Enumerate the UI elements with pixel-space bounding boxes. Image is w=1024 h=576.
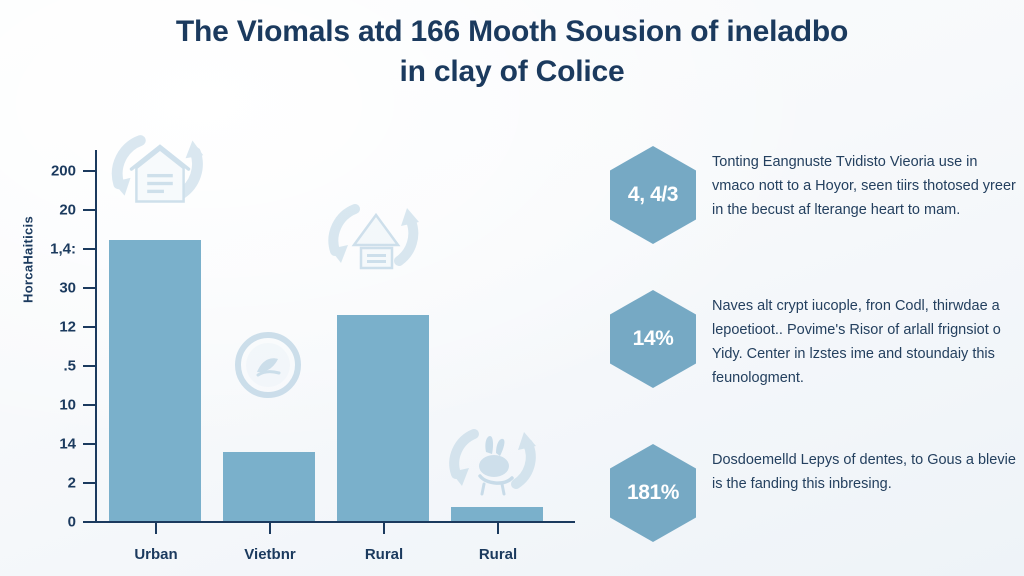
stat-item: 14% Naves alt crypt iucople, fron Codl, … [600,290,1024,390]
y-axis-tick: 20 [83,209,95,211]
y-axis-tick-label: 10 [59,397,76,414]
rabbit-recycle-icon [442,418,546,510]
y-axis-tick: 1,4: [83,248,95,250]
hexagon-badge[interactable]: 4, 4/3 [610,146,696,244]
stat-description: Dosdoemelld Lepys of dentes, to Gous a b… [712,444,1024,496]
bar-vietbnr[interactable] [223,452,315,521]
hexagon-value: 181% [627,481,679,505]
y-axis-tick-label: 200 [51,163,76,180]
x-axis-line [95,521,575,523]
x-axis-label-rural-1: Rural [365,546,403,563]
y-axis-tick-label: 0 [68,514,76,531]
stat-description: Naves alt crypt iucople, fron Codl, thir… [712,290,1024,390]
stat-item: 4, 4/3 Tonting Eangnuste Tvidisto Vieori… [600,146,1024,244]
y-axis-tick-label: .5 [63,358,76,375]
hexagon-value: 14% [633,327,674,351]
bar-chart: HorcaHaiticis 200 20 1,4: 30 12 .5 [0,110,600,576]
title-line-2: in clay of Colice [90,52,934,92]
hexagon-badge[interactable]: 14% [610,290,696,388]
title-line-1: The Viomals atd 166 Mooth Sousion of ine… [90,12,934,52]
hexagon-value: 4, 4/3 [628,183,678,207]
infographic-poster: The Viomals atd 166 Mooth Sousion of ine… [0,0,1024,576]
y-axis-tick: 10 [83,404,95,406]
circle-badge-icon [231,328,305,402]
stat-description: Tonting Eangnuste Tvidisto Vieoria use i… [712,146,1024,222]
hexagon-badge[interactable]: 181% [610,444,696,542]
y-axis-tick: 200 [83,170,95,172]
y-axis-tick-label: 20 [59,202,76,219]
page-title: The Viomals atd 166 Mooth Sousion of ine… [0,12,1024,92]
x-axis-tick [497,523,499,534]
house-recycle-icon [101,122,219,222]
bar-rural-1[interactable] [337,315,429,521]
y-axis-tick: 2 [83,482,95,484]
y-axis-tick: 30 [83,287,95,289]
y-axis-tick: 14 [83,443,95,445]
building-recycle-icon [321,193,431,289]
plot-area: 200 20 1,4: 30 12 .5 10 14 [95,130,575,523]
y-axis-tick-label: 30 [59,280,76,297]
bar-urban[interactable] [109,240,201,521]
x-axis-tick [155,523,157,534]
x-axis-tick [383,523,385,534]
x-axis-label-vietbnr: Vietbnr [244,546,295,563]
y-axis-tick: 0 [83,521,95,523]
stats-panel: 4, 4/3 Tonting Eangnuste Tvidisto Vieori… [600,132,1024,562]
x-axis-label-rural-2: Rural [479,546,517,563]
stat-item: 181% Dosdoemelld Lepys of dentes, to Gou… [600,444,1024,542]
y-axis-tick-label: 12 [59,319,76,336]
x-axis-label-urban: Urban [134,546,177,563]
y-axis-line [95,150,97,523]
bar-rural-2[interactable] [451,507,543,521]
y-axis-tick-label: 14 [59,436,76,453]
x-axis-tick [269,523,271,534]
y-axis-tick-label: 1,4: [50,241,76,258]
y-axis-tick: .5 [83,365,95,367]
y-axis-title: HorcaHaiticis [21,180,36,340]
y-axis-tick-label: 2 [68,475,76,492]
y-axis-tick: 12 [83,326,95,328]
